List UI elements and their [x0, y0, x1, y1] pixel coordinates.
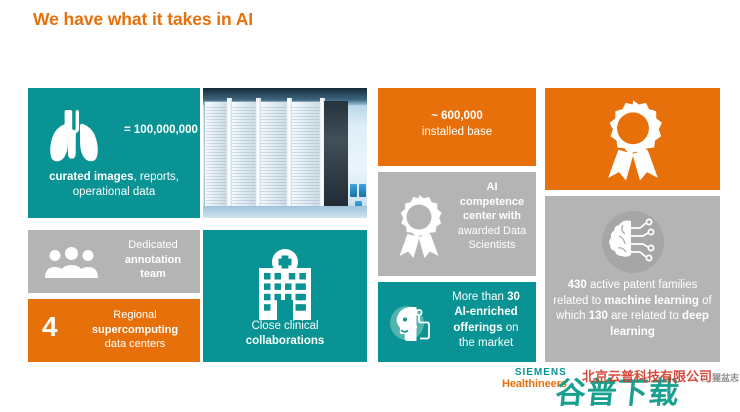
- annotation-line-2: annotation: [125, 254, 181, 266]
- patents-num-1: 430: [568, 279, 587, 291]
- installed-text: ~ 600,000 installed base: [388, 108, 526, 140]
- ai-head-profile-icon: [388, 302, 442, 351]
- logo-line-siemens: SIEMENS: [502, 368, 567, 379]
- supercomputing-text: Regional supercomputing data centers: [80, 308, 190, 352]
- clinical-line-1: Close clinical: [251, 320, 318, 332]
- patents-text-3: are related to: [608, 310, 682, 322]
- competence-line-5: Scientists: [468, 239, 515, 251]
- server-rack: [205, 102, 227, 210]
- annotation-line-3: team: [140, 268, 166, 280]
- card-patent-families[interactable]: 430 active patent families related to ma…: [545, 196, 720, 362]
- competence-line-4: awarded Data: [458, 225, 527, 237]
- card-ai-offerings[interactable]: More than 30 AI-enriched offerings on th…: [378, 282, 536, 362]
- competence-text: AI competence center with awarded Data S…: [456, 180, 528, 253]
- slide-root: We have what it takes in AI = 100,000,00…: [0, 0, 740, 409]
- annotation-line-1: Dedicated: [128, 239, 178, 251]
- rack-indicator: [350, 184, 357, 197]
- clinical-line-2: collaborations: [246, 335, 325, 347]
- page-title: We have what it takes in AI: [33, 9, 253, 30]
- lungs-caption: curated images, reports, operational dat…: [36, 170, 192, 200]
- competence-line-3: center with: [463, 210, 521, 222]
- award-ribbon-icon: [545, 99, 720, 188]
- logo-line-healthineers: Healthineers: [502, 379, 567, 391]
- card-ai-competence-center[interactable]: AI competence center with awarded Data S…: [378, 172, 536, 276]
- card-installed-base[interactable]: ~ 600,000 installed base: [378, 88, 536, 166]
- watermark-main-text: 谷普下载: [554, 368, 683, 412]
- installed-label: installed base: [422, 126, 492, 138]
- people-group-icon: [42, 247, 102, 284]
- offerings-text: More than 30 AI-enriched offerings on th…: [444, 290, 528, 352]
- card-annotation-team[interactable]: Dedicated annotation team: [28, 230, 200, 293]
- award-ribbon-icon: [390, 194, 448, 265]
- rack-pillar: [227, 98, 232, 212]
- patents-num-2: 130: [589, 310, 608, 322]
- competence-line-1: AI: [487, 181, 498, 193]
- server-rack: [290, 102, 320, 210]
- patents-text: 430 active patent families related to ma…: [552, 278, 713, 340]
- patents-bold-1: machine learning: [604, 295, 699, 307]
- lungs-equals-value: = 100,000,000: [124, 124, 198, 136]
- rack-pillar: [287, 98, 292, 212]
- card-clinical-collaborations[interactable]: Close clinical collaborations: [203, 230, 367, 362]
- watermark-overlay-text: 北京云普科技有限公司: [582, 366, 712, 385]
- brain-circuit-icon: [545, 210, 720, 279]
- photo-floor: [203, 206, 367, 218]
- annotation-text: Dedicated annotation team: [116, 238, 190, 282]
- offerings-seg-1: More than: [452, 291, 507, 303]
- watermark-side-text: △ 猩盆志: [702, 371, 739, 384]
- dark-server-bay: [324, 101, 348, 212]
- offerings-seg-2: 30: [507, 291, 520, 303]
- download-site-watermark: 谷普下载 北京云普科技有限公司 △ 猩盆志: [556, 362, 740, 409]
- card-curated-images[interactable]: = 100,000,000 curated images, reports, o…: [28, 88, 200, 218]
- server-rack: [230, 102, 256, 210]
- lungs-caption-bold: curated images: [49, 171, 133, 183]
- hospital-icon: [203, 248, 367, 325]
- card-supercomputing-centers[interactable]: 4 Regional supercomputing data centers: [28, 299, 200, 362]
- rack-indicator: [359, 184, 366, 197]
- competence-line-2: competence: [460, 196, 524, 208]
- supercomputing-line-2: supercomputing: [92, 324, 178, 336]
- siemens-healthineers-logo: SIEMENS Healthineers: [502, 368, 567, 390]
- supercomputing-line-1: Regional: [113, 309, 156, 321]
- server-rack: [259, 102, 287, 210]
- installed-value: ~ 600,000: [431, 110, 482, 122]
- data-center-photo[interactable]: [203, 88, 367, 218]
- card-award[interactable]: [545, 88, 720, 190]
- rack-pillar: [256, 98, 261, 212]
- supercomputing-line-3: data centers: [105, 338, 166, 350]
- clinical-text: Close clinical collaborations: [211, 319, 359, 349]
- supercomputing-count: 4: [42, 313, 58, 341]
